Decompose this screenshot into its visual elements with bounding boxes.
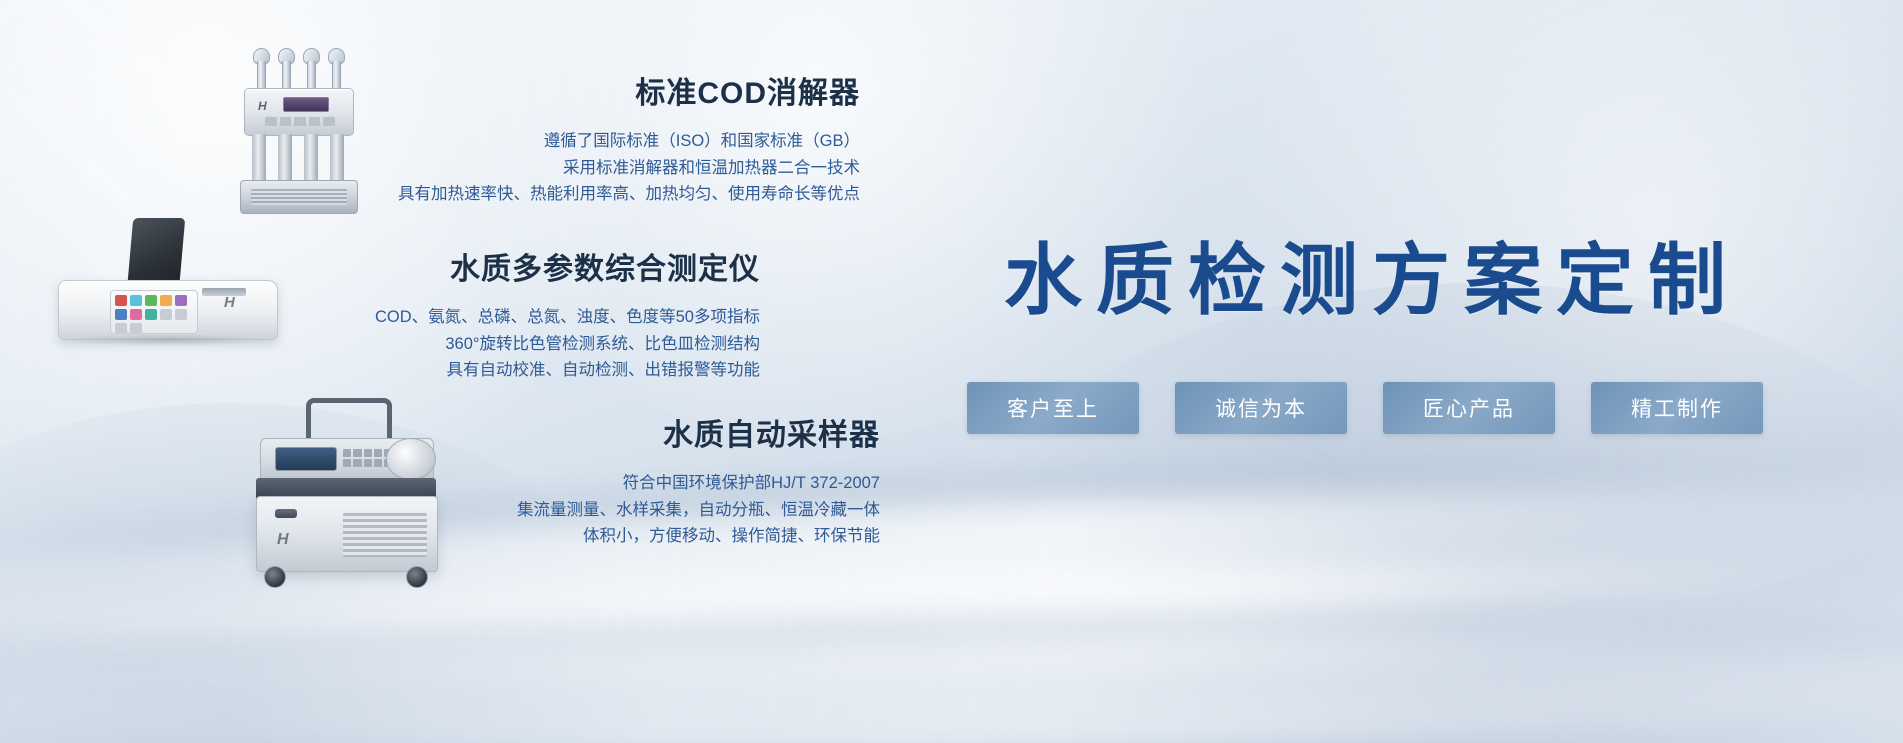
brand-mark-icon: H xyxy=(277,531,289,549)
banner-headline: 水质检测方案定制 xyxy=(860,238,1870,322)
badge-customer-first[interactable]: 客户至上 xyxy=(967,382,1139,434)
analyzer-buttons xyxy=(115,295,193,334)
product-description-line: 符合中国环境保护部HJ/T 372-2007 xyxy=(400,470,880,497)
product-description-line: 体积小，方便移动、操作简捷、环保节能 xyxy=(400,523,880,550)
badge-integrity[interactable]: 诚信为本 xyxy=(1175,382,1347,434)
brand-mark-icon: H xyxy=(258,99,267,113)
product-description: 遵循了国际标准（ISO）和国家标准（GB） 采用标准消解器和恒温加热器二合一技术… xyxy=(320,128,860,208)
cabinet-handle xyxy=(275,509,297,518)
product-description-line: 具有加热速率快、热能利用率高、加热均匀、使用寿命长等优点 xyxy=(320,181,860,208)
badge-craftsmanship[interactable]: 匠心产品 xyxy=(1383,382,1555,434)
caster-wheel xyxy=(264,566,286,588)
product-description-line: 遵循了国际标准（ISO）和国家标准（GB） xyxy=(320,128,860,155)
product-description: 符合中国环境保护部HJ/T 372-2007 集流量测量、水样采集，自动分瓶、恒… xyxy=(400,470,880,550)
product-title: 水质自动采样器 xyxy=(400,418,880,454)
product-description-line: 具有自动校准、自动检测、出错报警等功能 xyxy=(220,357,760,384)
product-block-auto-sampler: 水质自动采样器 符合中国环境保护部HJ/T 372-2007 集流量测量、水样采… xyxy=(400,418,880,550)
sampler-display xyxy=(275,447,337,471)
product-description-line: 360°旋转比色管检测系统、比色皿检测结构 xyxy=(220,331,760,358)
caster-wheel xyxy=(406,566,428,588)
badge-row: 客户至上 诚信为本 匠心产品 精工制作 xyxy=(860,382,1870,434)
product-description: COD、氨氮、总磷、总氮、浊度、色度等50多项指标 360°旋转比色管检测系统、… xyxy=(220,304,760,384)
product-title: 水质多参数综合测定仪 xyxy=(220,252,760,288)
badge-fine-production[interactable]: 精工制作 xyxy=(1591,382,1763,434)
product-description-line: 采用标准消解器和恒温加热器二合一技术 xyxy=(320,155,860,182)
product-title: 标准COD消解器 xyxy=(320,76,860,112)
product-block-multi-parameter-analyzer: 水质多参数综合测定仪 COD、氨氮、总磷、总氮、浊度、色度等50多项指标 360… xyxy=(220,252,760,384)
analyzer-touch-panel xyxy=(110,290,198,334)
product-description-line: COD、氨氮、总磷、总氮、浊度、色度等50多项指标 xyxy=(220,304,760,331)
product-block-cod-digester: 标准COD消解器 遵循了国际标准（ISO）和国家标准（GB） 采用标准消解器和恒… xyxy=(320,76,860,208)
promo-banner: H 标准COD消解器 遵循了国际标准（ISO）和国家标准（GB） 采用标准消解器… xyxy=(0,0,1903,743)
product-description-line: 集流量测量、水样采集，自动分瓶、恒温冷藏一体 xyxy=(400,497,880,524)
